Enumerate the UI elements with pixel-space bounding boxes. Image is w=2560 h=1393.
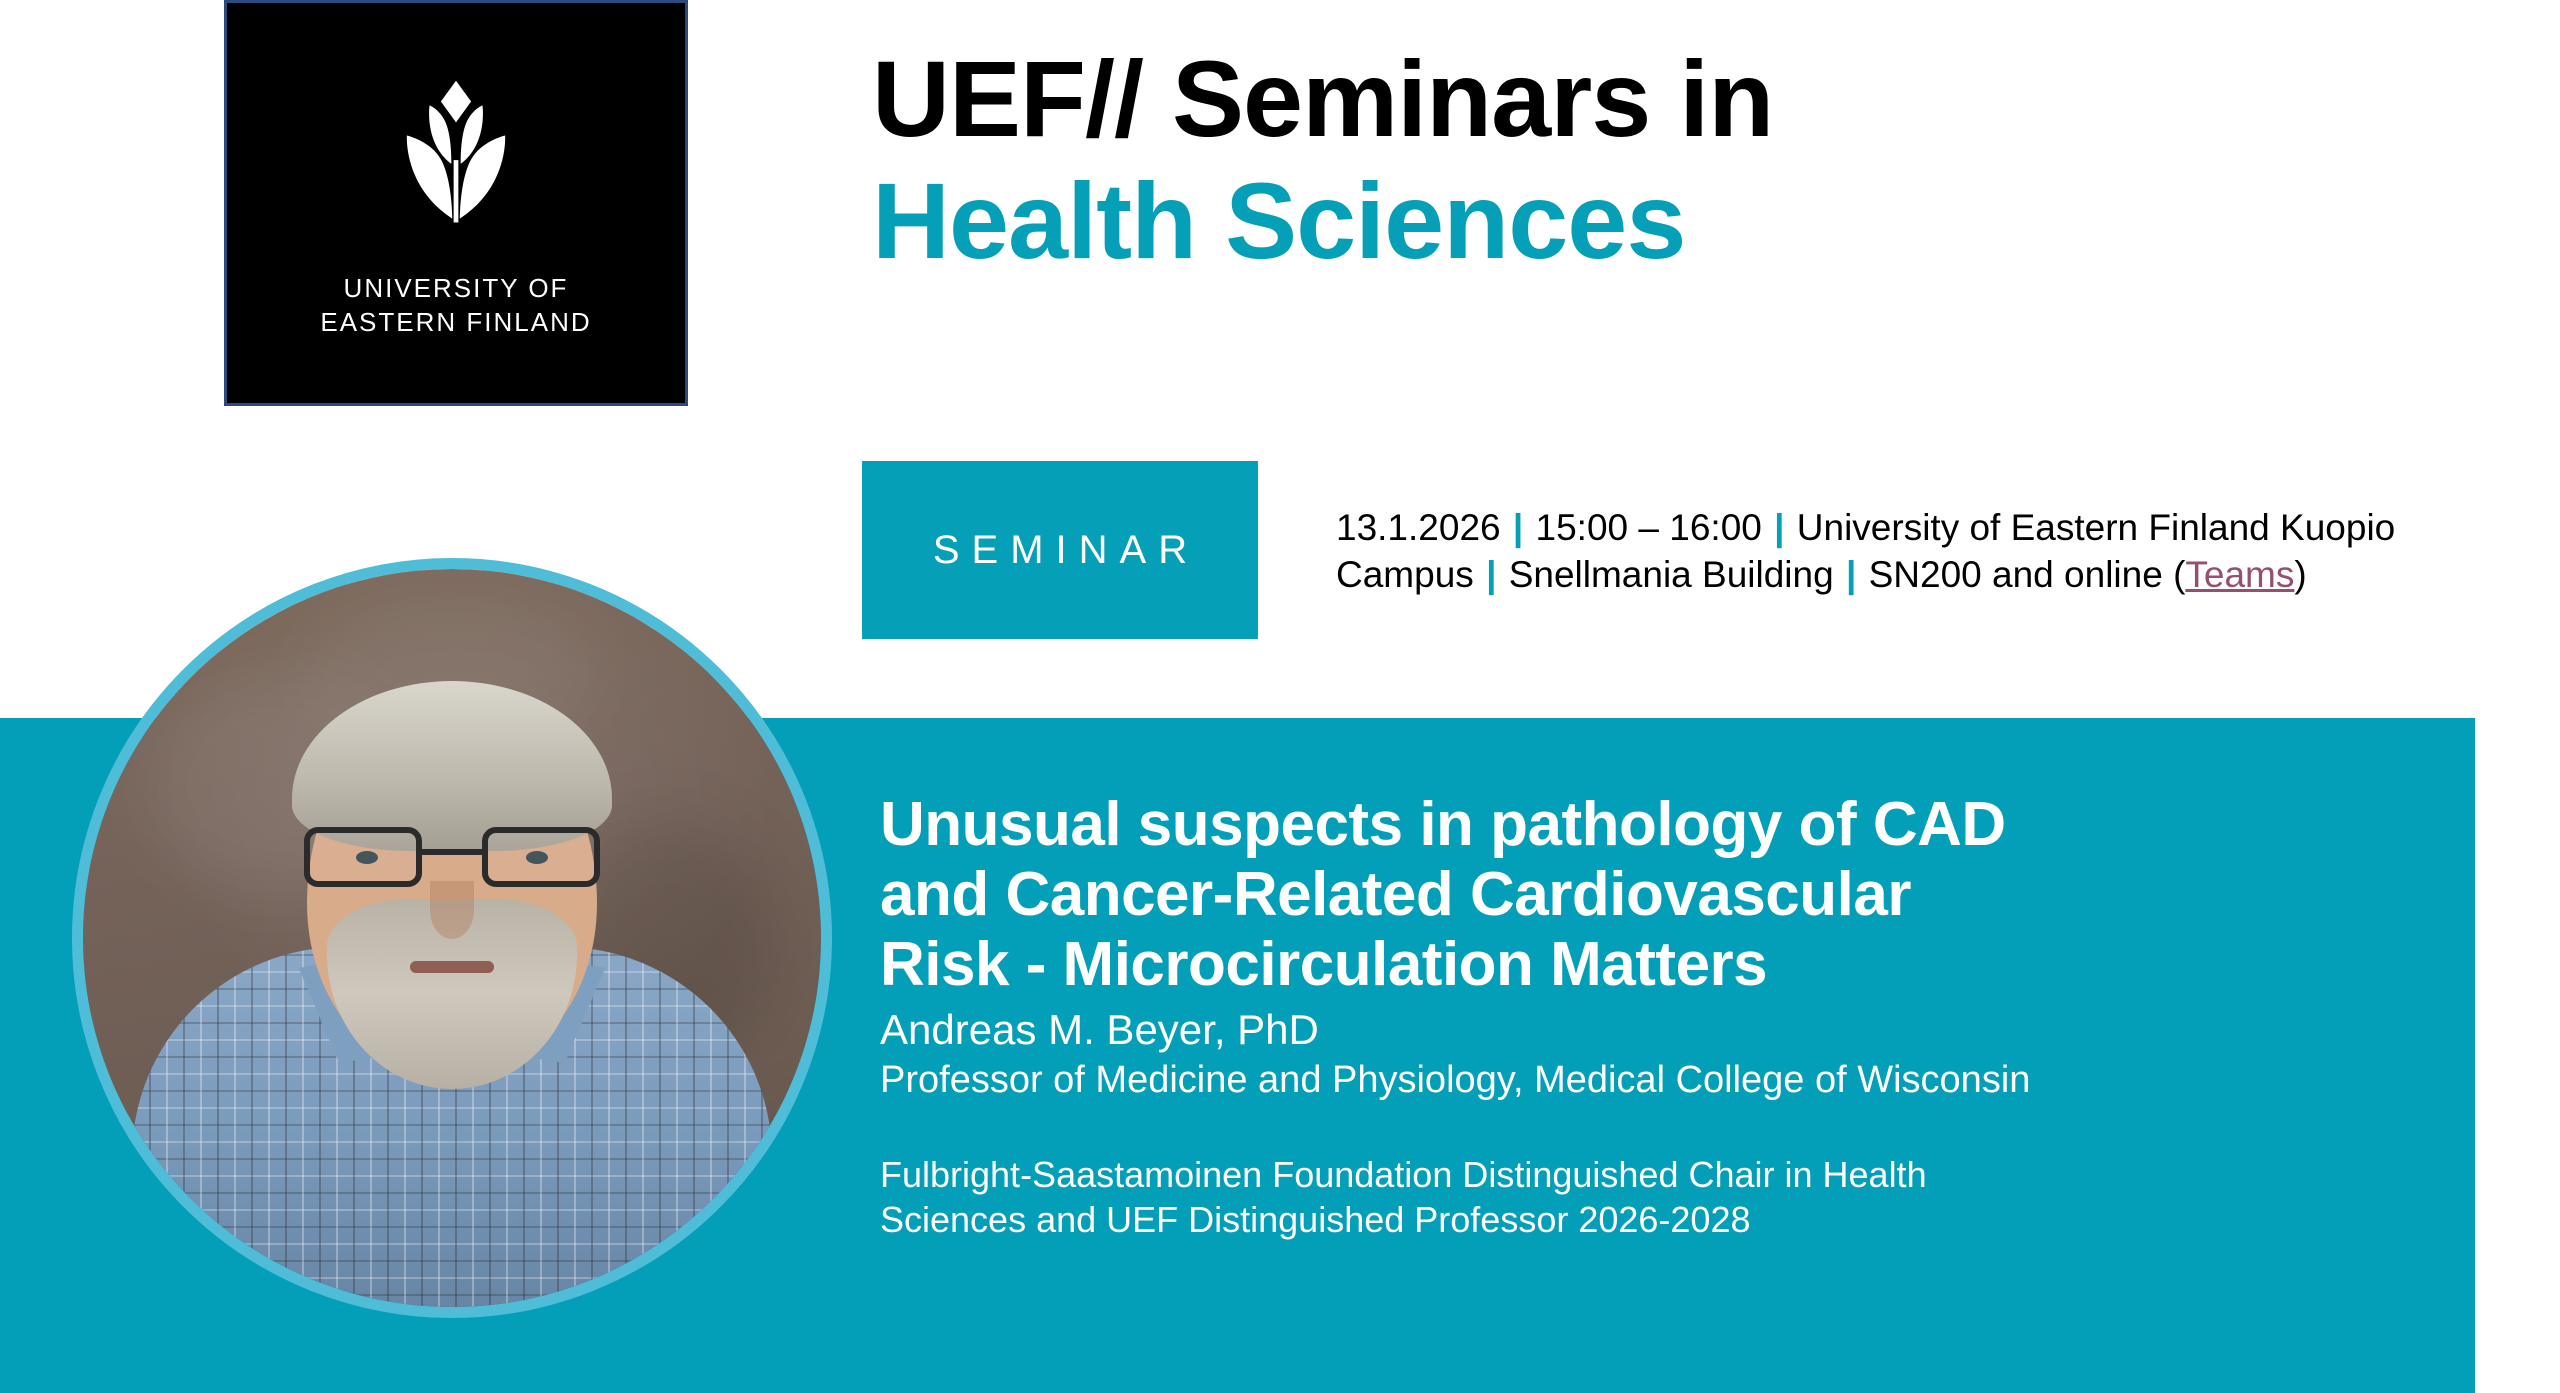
teams-link[interactable]: Teams bbox=[2185, 554, 2294, 595]
event-building: Snellmania Building bbox=[1509, 554, 1834, 595]
nose bbox=[430, 881, 474, 939]
talk-title-line2: and Cancer-Related Cardiovascular bbox=[880, 860, 1911, 929]
event-online-prefix: ( bbox=[2173, 554, 2185, 595]
event-separator-2: | bbox=[1772, 507, 1786, 548]
event-details: 13.1.2026 | 15:00 – 16:00 | University o… bbox=[1336, 505, 2446, 598]
eyeglass-bridge bbox=[422, 849, 482, 855]
speaker-name: Andreas M. Beyer, PhD bbox=[880, 1004, 2440, 1055]
eyeglasses-icon bbox=[304, 827, 600, 889]
event-separator-4: | bbox=[1844, 554, 1858, 595]
talk-title-line3: Risk - Microcirculation Matters bbox=[880, 930, 1767, 999]
event-date: 13.1.2026 bbox=[1336, 507, 1501, 548]
event-time: 15:00 – 16:00 bbox=[1536, 507, 1762, 548]
event-separator-1: | bbox=[1511, 507, 1525, 548]
event-organization: University of Eastern Finland bbox=[1797, 507, 2270, 548]
page-title: UEF// Seminars in Health Sciences bbox=[872, 38, 2472, 282]
event-room: SN200 and online bbox=[1869, 554, 2163, 595]
speaker-note: Fulbright-Saastamoinen Foundation Distin… bbox=[880, 1152, 2440, 1242]
talk-title-line1: Unusual suspects in pathology of CAD bbox=[880, 790, 2006, 859]
page-title-line1: UEF// Seminars in bbox=[872, 38, 2472, 160]
uef-plant-book-emblem-icon bbox=[361, 77, 551, 247]
speaker-note-line1: Fulbright-Saastamoinen Foundation Distin… bbox=[880, 1154, 1927, 1195]
speaker-note-line2: Sciences and UEF Distinguished Professor… bbox=[880, 1199, 1751, 1240]
seminar-badge: SEMINAR bbox=[862, 461, 1258, 639]
talk-block: Unusual suspects in pathology of CAD and… bbox=[880, 790, 2440, 1242]
uef-wordmark-line2: EASTERN FINLAND bbox=[320, 305, 591, 339]
mouth bbox=[410, 961, 494, 973]
seminar-badge-label: SEMINAR bbox=[921, 528, 1199, 573]
event-online-suffix: ) bbox=[2294, 554, 2306, 595]
eyeglass-lens-left bbox=[304, 827, 422, 887]
uef-logo-box: UNIVERSITY OF EASTERN FINLAND bbox=[224, 0, 688, 406]
talk-title: Unusual suspects in pathology of CAD and… bbox=[880, 790, 2440, 1000]
speaker-portrait bbox=[72, 558, 832, 1318]
speaker-portrait-photo bbox=[83, 569, 821, 1307]
speaker-affiliation: Professor of Medicine and Physiology, Me… bbox=[880, 1057, 2440, 1103]
seminar-poster: UNIVERSITY OF EASTERN FINLAND UEF// Semi… bbox=[0, 0, 2560, 1393]
uef-wordmark-line1: UNIVERSITY OF bbox=[320, 271, 591, 305]
eyeglass-lens-right bbox=[482, 827, 600, 887]
uef-wordmark: UNIVERSITY OF EASTERN FINLAND bbox=[320, 271, 591, 340]
event-separator-3: | bbox=[1484, 554, 1498, 595]
page-title-line2: Health Sciences bbox=[872, 160, 2472, 282]
